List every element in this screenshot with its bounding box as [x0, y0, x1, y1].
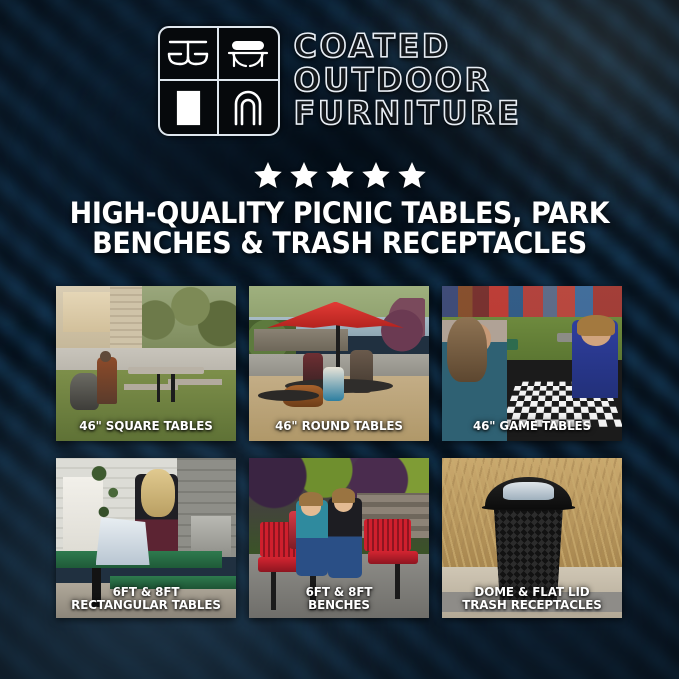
product-tile-grid: 46" SQUARE TABLES — [56, 286, 623, 618]
star-icon — [289, 160, 319, 190]
product-tile-square-tables[interactable]: 46" SQUARE TABLES — [56, 286, 236, 441]
wordmark-line-1: COATED — [294, 30, 522, 63]
product-tile-trash-receptacles[interactable]: DOME & FLAT LID TRASH RECEPTACLES — [442, 458, 622, 618]
star-icon — [397, 160, 427, 190]
trash-receptacle-icon — [160, 81, 219, 134]
tile-caption: DOME & FLAT LID TRASH RECEPTACLES — [447, 585, 618, 612]
tile-caption: 6FT & 8FT RECTANGULAR TABLES — [61, 585, 232, 612]
tile-caption: 46" ROUND TABLES — [254, 419, 425, 432]
wordmark-line-2: OUTDOOR — [294, 64, 522, 97]
product-tile-rectangular-tables[interactable]: 6FT & 8FT RECTANGULAR TABLES — [56, 458, 236, 618]
rating-stars — [0, 160, 679, 190]
tile-caption-line: 46" SQUARE TABLES — [61, 419, 232, 432]
headline-line-1: HIGH-QUALITY PICNIC TABLES, PARK — [24, 198, 655, 228]
star-icon — [253, 160, 283, 190]
product-tile-benches[interactable]: 6FT & 8FT BENCHES — [249, 458, 429, 618]
bike-rack-icon — [219, 81, 278, 134]
product-tile-game-tables[interactable]: 46" GAME TABLES — [442, 286, 622, 441]
picnic-table-icon — [160, 28, 219, 81]
wordmark-line-3: FURNITURE — [294, 97, 522, 130]
advertisement-banner: COATED OUTDOOR FURNITURE HIGH-QUALITY PI… — [0, 0, 679, 679]
tile-caption-line: BENCHES — [254, 598, 425, 611]
star-icon — [325, 160, 355, 190]
tile-caption: 6FT & 8FT BENCHES — [254, 585, 425, 612]
tile-caption-line: TRASH RECEPTACLES — [447, 598, 618, 611]
brand-logo: COATED OUTDOOR FURNITURE — [0, 26, 679, 136]
headline-line-2: BENCHES & TRASH RECEPTACLES — [24, 228, 655, 258]
bench-icon — [219, 28, 278, 81]
tile-caption-line: RECTANGULAR TABLES — [61, 598, 232, 611]
product-tile-round-tables[interactable]: 46" ROUND TABLES — [249, 286, 429, 441]
tile-caption: 46" GAME TABLES — [447, 419, 618, 432]
star-icon — [361, 160, 391, 190]
tile-caption-line: 46" GAME TABLES — [447, 419, 618, 432]
tile-caption: 46" SQUARE TABLES — [61, 419, 232, 432]
tile-caption-line: 46" ROUND TABLES — [254, 419, 425, 432]
brand-wordmark: COATED OUTDOOR FURNITURE — [294, 30, 522, 132]
headline: HIGH-QUALITY PICNIC TABLES, PARK BENCHES… — [24, 198, 655, 259]
furniture-grid-icon — [158, 26, 280, 136]
